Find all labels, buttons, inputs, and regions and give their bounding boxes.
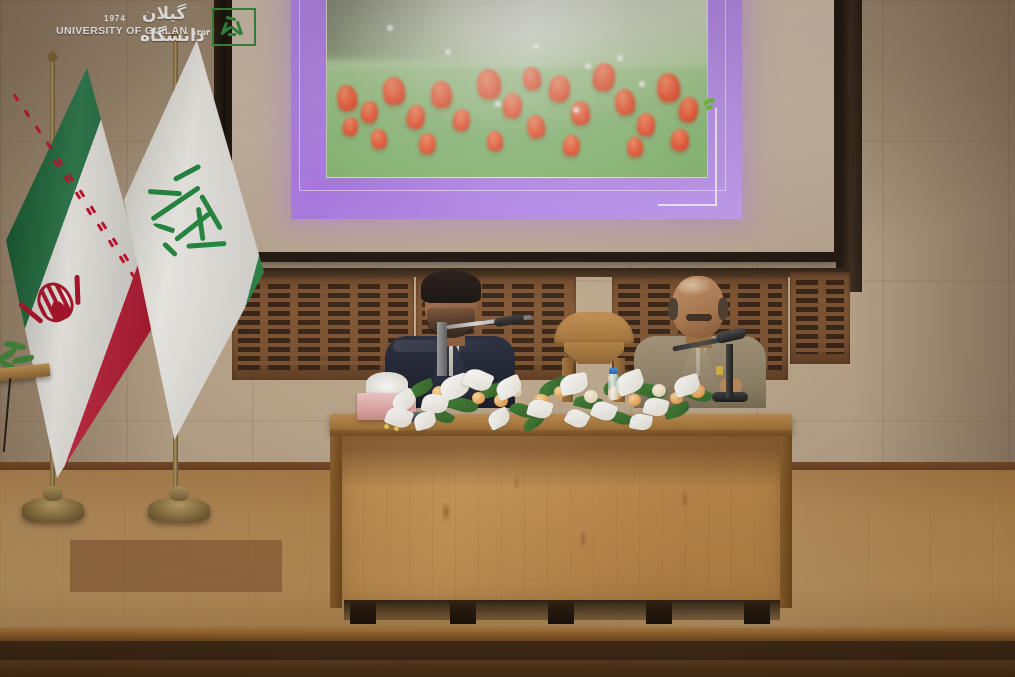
desk-foot-mid-1 bbox=[450, 602, 476, 624]
panelist-right-hair-right bbox=[718, 298, 728, 320]
microphone-left-base bbox=[437, 322, 447, 376]
desk-foot-mid-2 bbox=[548, 602, 574, 624]
flower-rose bbox=[652, 384, 666, 397]
desk-side-right bbox=[780, 436, 792, 608]
panelist-right-hair-left bbox=[668, 298, 678, 320]
flower-rose bbox=[628, 394, 641, 406]
flag-iran-kufic-mark bbox=[46, 141, 53, 149]
university-of-guilan-logo-icon bbox=[212, 8, 256, 46]
flower-lily bbox=[563, 406, 590, 431]
microphone-right-stem bbox=[726, 344, 733, 398]
university-of-guilan-watermark bbox=[70, 540, 282, 592]
chair-backrest bbox=[554, 312, 634, 346]
acoustic-panel-4 bbox=[790, 272, 850, 364]
flag-iran-kufic-mark bbox=[24, 109, 31, 117]
panelist-right-head-highlight bbox=[678, 278, 712, 296]
flag-iran-kufic-mark bbox=[13, 93, 20, 101]
projection-screen-glow bbox=[232, 0, 834, 252]
flower-berry bbox=[394, 426, 399, 431]
flower-arrangement bbox=[378, 370, 708, 432]
flower-lily bbox=[412, 410, 437, 432]
bottle-cap bbox=[609, 368, 618, 374]
flower-berry bbox=[384, 424, 389, 429]
panelist-left-hair bbox=[421, 270, 481, 303]
desk-side-left bbox=[330, 436, 342, 608]
watermark-year-persian: ۱۳۵۳ bbox=[192, 28, 210, 37]
panel-desk bbox=[330, 414, 792, 628]
auditorium-photo: 1974 UNIVERSITY OF GUILAN گیلان دانشگاه … bbox=[0, 0, 1015, 677]
panelist-right-mustache bbox=[686, 314, 712, 321]
flag-university-of-guilan bbox=[124, 40, 264, 440]
flag-base-uni bbox=[148, 498, 210, 522]
panelist-right-lapel-pin bbox=[716, 366, 723, 375]
desk-foot-left bbox=[350, 602, 376, 624]
watermark-name-persian-line-1: گیلان bbox=[142, 4, 186, 24]
bottle-on-desk bbox=[608, 374, 619, 400]
flag-iran-kufic-mark bbox=[35, 125, 42, 133]
flower-rose bbox=[472, 392, 485, 404]
front-row-rail bbox=[0, 660, 1015, 677]
desk-foot-right bbox=[744, 602, 770, 624]
flower-rose bbox=[584, 390, 598, 403]
watermark-year-english: 1974 bbox=[104, 14, 126, 23]
flower-lily bbox=[629, 412, 653, 432]
flag-base-iran bbox=[22, 498, 84, 522]
desk-foot-mid-3 bbox=[646, 602, 672, 624]
stage-edge bbox=[0, 628, 1015, 642]
desk-wood-grain bbox=[340, 436, 782, 602]
